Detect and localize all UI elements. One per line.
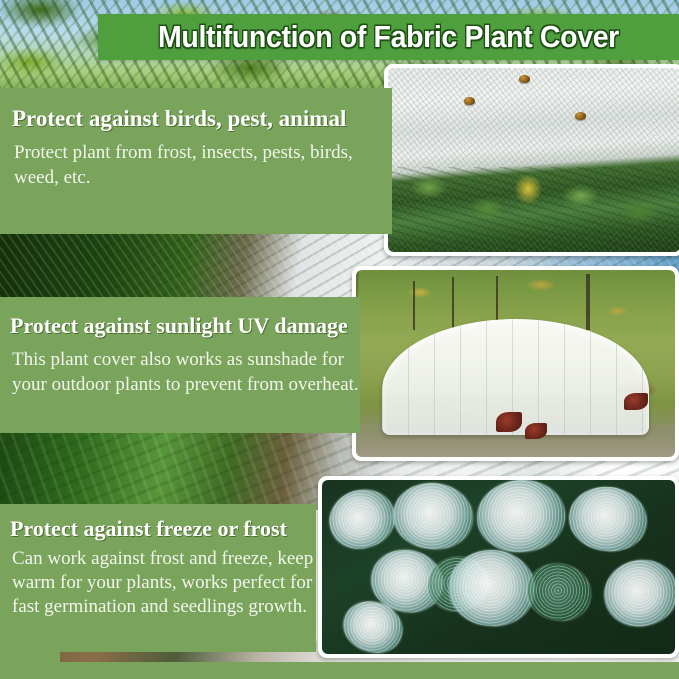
garden-post: [496, 276, 498, 325]
feature-panel-3: Protect against freeze or frost Can work…: [0, 504, 316, 652]
feature-3-headline: Protect against freeze or frost: [10, 516, 316, 541]
frost-leaf: [322, 482, 402, 558]
feature-panel-1: Protect against birds, pest, animal Prot…: [0, 88, 392, 234]
feature-photo-1: [384, 64, 679, 256]
title-bar: Multifunction of Fabric Plant Cover: [98, 14, 679, 60]
feature-2-headline: Protect against sunlight UV damage: [10, 313, 360, 338]
feature-photo-2-image: [356, 270, 675, 457]
feature-photo-1-image: [388, 68, 679, 252]
feature-panel-2: Protect against sunlight UV damage This …: [0, 297, 360, 433]
frost-leaf: [521, 557, 597, 627]
page-title: Multifunction of Fabric Plant Cover: [158, 19, 619, 55]
frost-leaf: [598, 553, 675, 633]
beetle-icon: [519, 75, 530, 83]
garden-post: [413, 281, 415, 330]
feature-1-body: Protect plant from frost, insects, pests…: [14, 140, 392, 190]
frost-leaf: [389, 480, 475, 553]
bottom-accent-strip: [0, 662, 679, 679]
feature-2-body: This plant cover also works as sunshade …: [12, 347, 360, 397]
product-infographic: Multifunction of Fabric Plant Cover: [0, 0, 679, 679]
frost-leaf: [475, 480, 568, 555]
feature-photo-3: [318, 476, 679, 658]
garden-post: [452, 277, 454, 329]
beetle-icon: [575, 112, 586, 120]
beetle-icon: [464, 97, 475, 105]
feature-photo-3-image: [322, 480, 675, 654]
feature-1-headline: Protect against birds, pest, animal: [12, 106, 392, 132]
garden-post: [586, 274, 590, 330]
frost-leaf: [565, 482, 651, 556]
red-lettuce: [525, 423, 547, 439]
feature-photo-2: [352, 266, 679, 461]
feature-3-body: Can work against frost and freeze, keep …: [12, 547, 316, 619]
